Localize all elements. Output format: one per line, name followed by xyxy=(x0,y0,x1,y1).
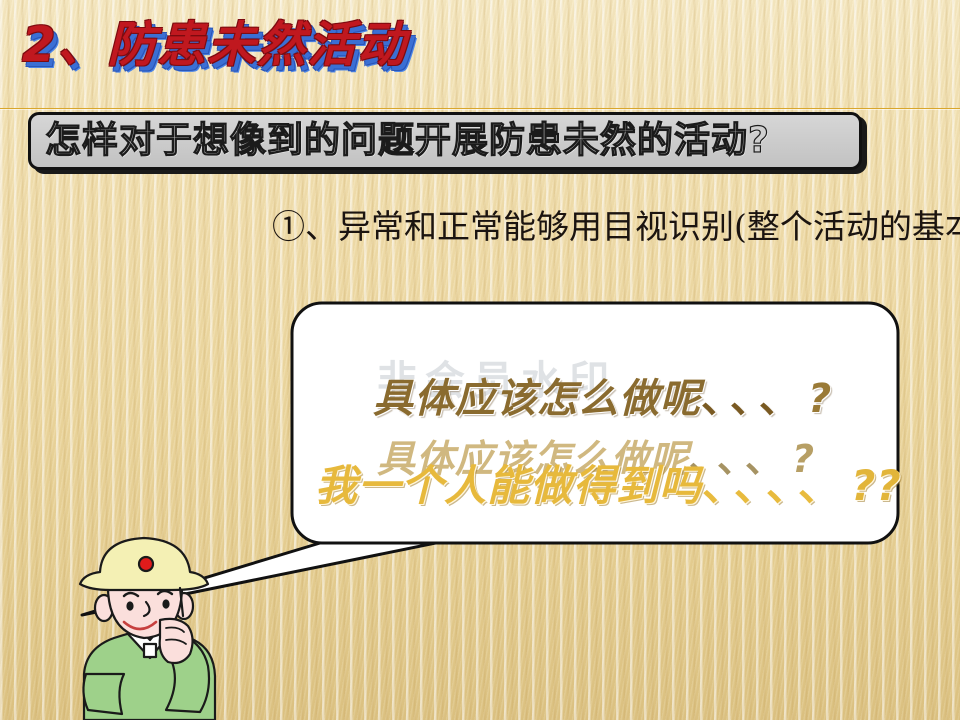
bubble-line-1-qmark: ? xyxy=(808,376,832,422)
slide-canvas: 2、防患未然活动 2、防患未然活动 怎样对于想像到的问题开展防患未然的活动? ①… xyxy=(0,0,960,720)
speech-bubble-content: 非会员水印 具体应该怎么做呢、、、? 具体应该怎么做呢、、、? 我一个人能做得到… xyxy=(305,320,905,555)
bubble-line-3: 我一个人能做得到吗、、、、?? xyxy=(315,452,902,513)
bubble-line-1-dots: 、、、 xyxy=(701,376,808,422)
worker-eye-left xyxy=(126,601,133,610)
worker-left-arm xyxy=(83,674,124,714)
helmet-emblem-dot xyxy=(139,557,153,571)
question-banner: 怎样对于想像到的问题开展防患未然的活动? xyxy=(28,112,862,170)
bubble-line-1-text: 具体应该怎么做呢 xyxy=(373,376,701,422)
worker-character-svg xyxy=(62,524,242,720)
bubble-line-3-dots: 、、、、 xyxy=(702,461,851,510)
worker-eye-right xyxy=(162,599,169,608)
bubble-line-3-text: 我一个人能做得到吗 xyxy=(315,461,702,510)
worker-character-illustration xyxy=(62,524,242,720)
body-bullet-line: ①、异常和正常能够用目视识别(整个活动的基本) xyxy=(272,205,960,249)
question-banner-text: 怎样对于想像到的问题开展防患未然的活动? xyxy=(31,119,770,163)
page-title-text: 2、防患未然活动 xyxy=(22,14,407,76)
page-title: 2、防患未然活动 2、防患未然活动 xyxy=(22,14,442,86)
bubble-line-3-qmark: ?? xyxy=(851,461,902,510)
bubble-line-1: 具体应该怎么做呢、、、? xyxy=(373,366,832,424)
gold-divider-rule xyxy=(0,108,960,109)
worker-tie-knot xyxy=(144,644,156,657)
worker-hand xyxy=(160,619,193,663)
